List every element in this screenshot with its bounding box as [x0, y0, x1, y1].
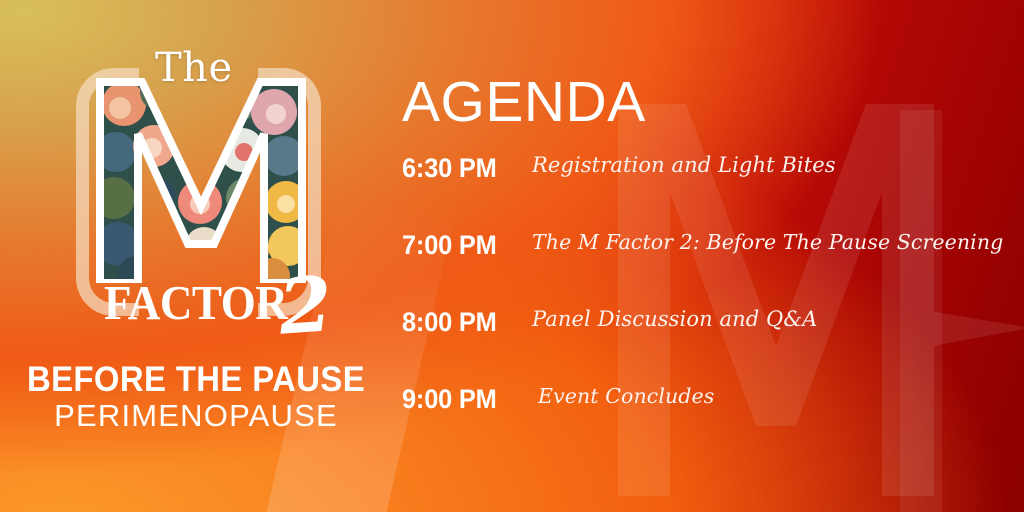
agenda-item-time: 8:00 PM [402, 307, 507, 338]
event-agenda-banner: The [0, 0, 1024, 512]
logo-subtitle: PERIMENOPAUSE [0, 398, 392, 434]
agenda-item-description: Event Concludes [538, 384, 714, 408]
agenda-item-description: Registration and Light Bites [532, 153, 836, 177]
agenda-item-time: 9:00 PM [402, 384, 507, 415]
floral-m-letter [96, 78, 306, 283]
agenda-item-time: 7:00 PM [402, 230, 507, 261]
agenda-list: 6:30 PM Registration and Light Bites 7:0… [402, 149, 1024, 457]
the-m-factor-logo: The [0, 0, 392, 512]
logo-tagline: BEFORE THE PAUSE [12, 362, 380, 399]
agenda-item-description: Panel Discussion and Q&A [532, 307, 817, 331]
agenda-item: 7:00 PM The M Factor 2: Before The Pause… [402, 226, 1024, 303]
agenda-item-description: The M Factor 2: Before The Pause Screeni… [532, 230, 1003, 254]
agenda-item: 8:00 PM Panel Discussion and Q&A [402, 303, 1024, 380]
agenda-item: 6:30 PM Registration and Light Bites [402, 149, 1024, 226]
agenda-item: 9:00 PM Event Concludes [402, 380, 1024, 457]
agenda-section: AGENDA 6:30 PM Registration and Light Bi… [402, 0, 1024, 512]
logo-sequel-number: 2 [276, 266, 334, 346]
agenda-item-time: 6:30 PM [402, 153, 507, 184]
logo-factor-text: FACTOR [104, 278, 287, 327]
agenda-title: AGENDA [402, 74, 646, 131]
